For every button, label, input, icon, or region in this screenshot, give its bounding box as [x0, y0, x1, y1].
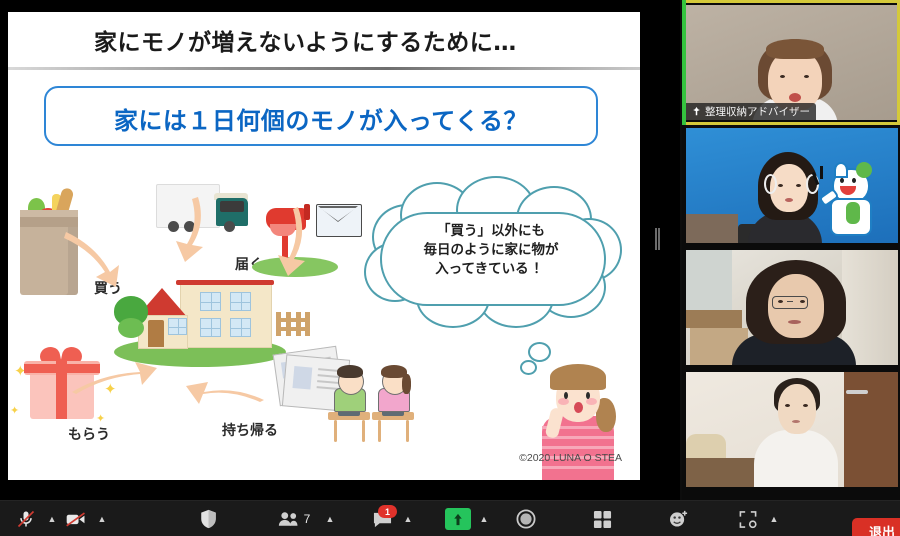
audio-button[interactable] — [8, 501, 44, 536]
question-callout-box: 家には１日何個のモノが入ってくる？ — [44, 86, 598, 146]
bubble-tail-large — [528, 342, 551, 362]
breakout-rooms-button[interactable] — [730, 501, 766, 536]
chevron-up-icon: ▲ — [98, 515, 107, 524]
active-speaker-highlight — [682, 0, 900, 125]
reactions-smiley-icon — [668, 509, 689, 529]
thought-bubble: 「買う」以外にも 毎日のように家に物が 入ってきている ！ — [360, 176, 622, 324]
participants-button[interactable]: 7 — [272, 501, 316, 536]
thought-bubble-text: 「買う」以外にも 毎日のように家に物が 入ってきている ！ — [380, 222, 602, 279]
leave-meeting-label: 退出 — [869, 522, 895, 536]
share-options-caret[interactable]: ▲ — [476, 501, 492, 536]
chat-options-caret[interactable]: ▲ — [400, 501, 416, 536]
chevron-up-icon: ▲ — [480, 515, 489, 524]
apps-button[interactable] — [584, 501, 620, 536]
slide-title-text: 家にモノが増えないようにするために… — [94, 23, 517, 57]
video-options-caret[interactable]: ▲ — [94, 501, 110, 536]
chevron-up-icon: ▲ — [48, 515, 57, 524]
participants-icon — [278, 511, 300, 527]
video-feed-4 — [686, 372, 898, 487]
chat-unread-badge: 1 — [378, 505, 397, 518]
video-feed-2 — [686, 128, 898, 243]
leave-meeting-button[interactable]: 退出 — [852, 518, 900, 536]
chevron-up-icon: ▲ — [770, 515, 779, 524]
reactions-button[interactable] — [660, 501, 696, 536]
chevron-up-icon: ▲ — [404, 515, 413, 524]
video-tile-3[interactable] — [686, 250, 898, 365]
presentation-slide: 家にモノが増えないようにするために… 家には１日何個のモノが入ってくる？ 買う … — [8, 12, 640, 480]
camera-off-icon — [65, 509, 87, 529]
zoom-meeting-window: 家にモノが増えないようにするために… 家には１日何個のモノが入ってくる？ 買う … — [0, 0, 900, 536]
apps-grid-icon — [593, 510, 612, 529]
slide-title: 家にモノが増えないようにするために… — [8, 12, 640, 68]
microphone-muted-icon — [16, 509, 36, 529]
breakout-options-caret[interactable]: ▲ — [766, 501, 782, 536]
video-tile-2[interactable] — [686, 128, 898, 243]
share-screen-icon — [445, 508, 471, 530]
breakout-rooms-icon — [738, 510, 758, 529]
title-divider-rule — [8, 67, 640, 70]
chevron-up-icon: ▲ — [326, 515, 335, 524]
security-button[interactable] — [190, 501, 226, 536]
bubble-tail-small — [520, 360, 537, 375]
shared-screen-stage[interactable]: 家にモノが増えないようにするために… 家には１日何個のモノが入ってくる？ 買う … — [0, 0, 680, 500]
share-screen-button[interactable] — [440, 501, 476, 536]
shield-icon — [199, 509, 218, 529]
video-filmstrip: 整理収納アドバイザー — [682, 0, 900, 500]
record-button[interactable] — [508, 501, 544, 536]
slide-copyright: ©2020 LUNA O STEA — [8, 452, 622, 464]
participants-count: 7 — [304, 512, 311, 526]
video-feed-3 — [686, 250, 898, 365]
video-tile-4[interactable] — [686, 372, 898, 487]
chat-button[interactable]: 1 — [364, 501, 400, 536]
panel-divider-handle[interactable] — [655, 228, 660, 250]
question-text: 家には１日何個のモノが入ってくる？ — [46, 101, 596, 136]
participants-options-caret[interactable]: ▲ — [322, 501, 338, 536]
meeting-toolbar: ▲ ▲ 7 ▲ — [0, 500, 900, 536]
video-button[interactable] — [58, 501, 94, 536]
record-icon — [516, 509, 536, 529]
